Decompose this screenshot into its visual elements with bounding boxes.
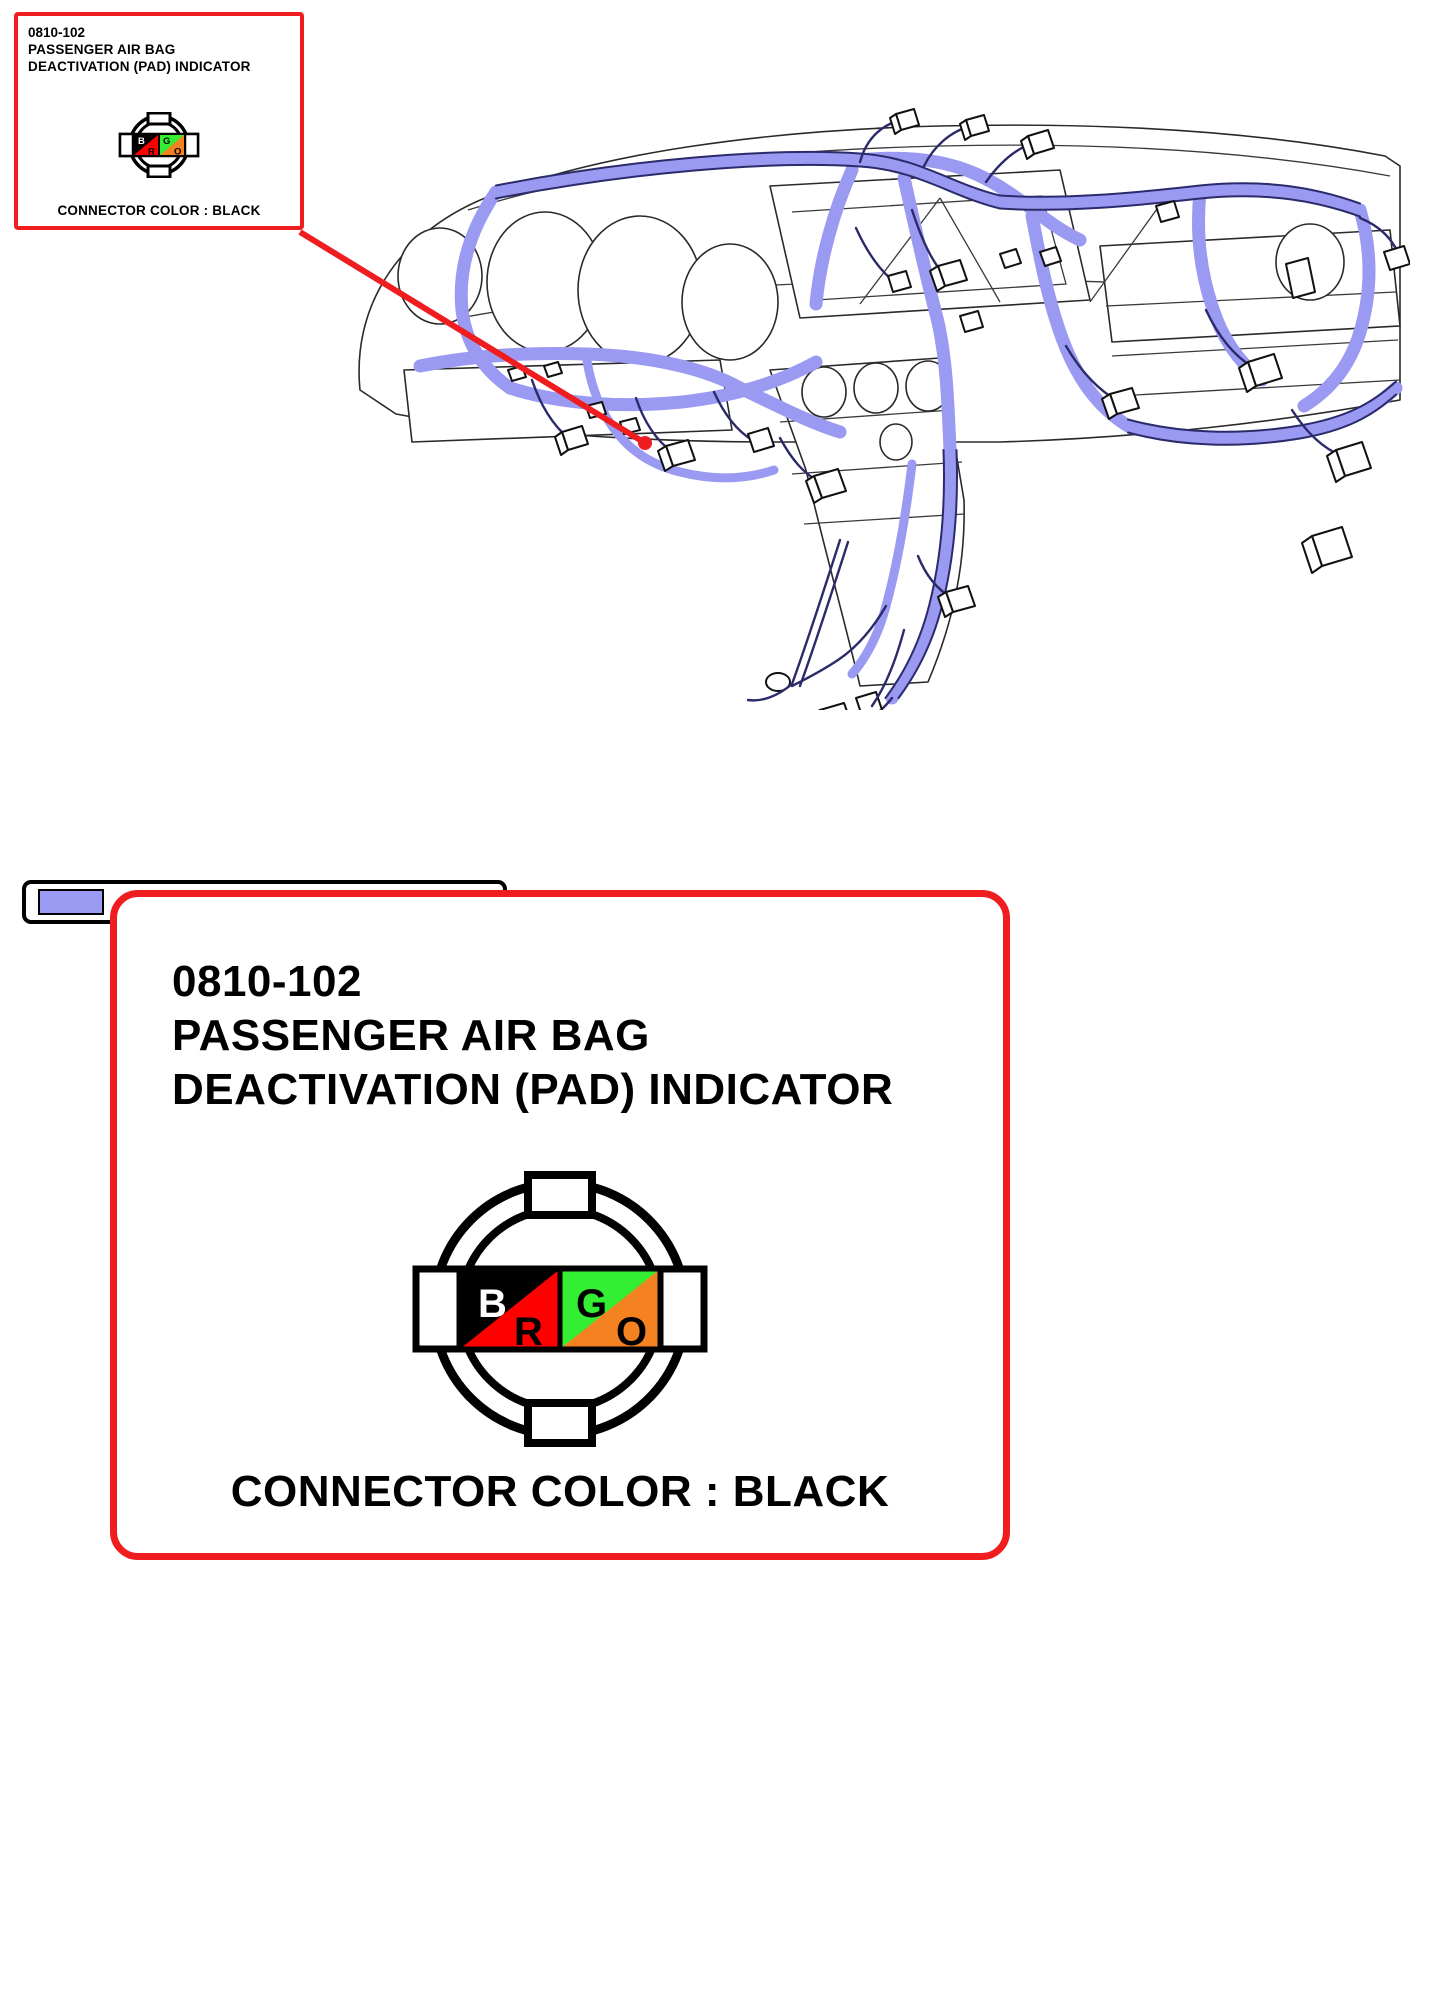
small-callout-name-line2: DEACTIVATION (PAD) INDICATOR: [28, 58, 290, 75]
instrument-panel-illustration: .body{fill:#fff;stroke:#2a2a2a;stroke-wi…: [300, 70, 1410, 710]
big-callout-connector-color: CONNECTOR COLOR : BLACK: [117, 1467, 1003, 1517]
svg-text:R: R: [514, 1310, 543, 1354]
small-callout-id: 0810-102: [28, 24, 290, 41]
small-callout-name-line1: PASSENGER AIR BAG: [28, 41, 290, 58]
svg-text:B: B: [138, 136, 145, 147]
dashboard-body: [359, 125, 1400, 686]
svg-text:O: O: [616, 1310, 647, 1354]
svg-text:O: O: [174, 147, 181, 158]
small-callout-box: 0810-102 PASSENGER AIR BAG DEACTIVATION …: [14, 12, 304, 230]
big-callout-name-line1: PASSENGER AIR BAG: [172, 1009, 893, 1063]
harness-color-swatch: [38, 889, 104, 915]
big-callout-box: 0810-102 PASSENGER AIR BAG DEACTIVATION …: [110, 890, 1010, 1560]
svg-text:G: G: [163, 136, 170, 147]
connector-cavity-left: B R: [460, 1269, 560, 1354]
svg-text:G: G: [576, 1282, 607, 1326]
small-callout-connector-color: CONNECTOR COLOR : BLACK: [18, 203, 300, 218]
connector-symbol-small: B R G O: [106, 112, 212, 178]
connector-cavity-right: G O: [560, 1269, 660, 1354]
svg-text:R: R: [148, 147, 155, 158]
svg-text:B: B: [478, 1282, 507, 1326]
big-callout-id: 0810-102: [172, 955, 893, 1009]
big-callout-heading: 0810-102 PASSENGER AIR BAG DEACTIVATION …: [172, 955, 893, 1117]
big-callout-name-line2: DEACTIVATION (PAD) INDICATOR: [172, 1063, 893, 1117]
connector-symbol-large: B R G O: [410, 1165, 710, 1453]
